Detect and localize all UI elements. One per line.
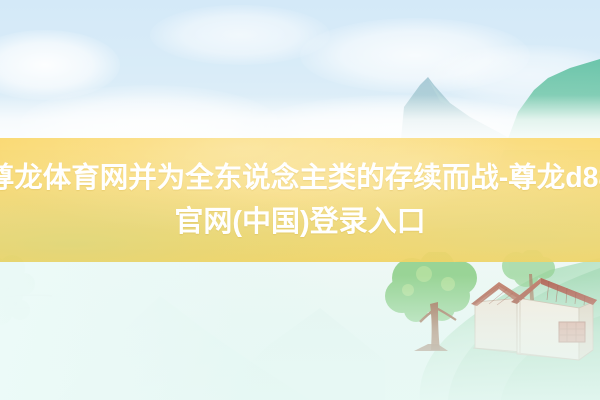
illustration-canvas: 尊龙体育网并为全东说念主类的存续而战-尊龙d88 官网(中国)登录入口 [0, 0, 600, 400]
banner-title-line-2: 官网(中国)登录入口 [174, 200, 425, 244]
left-foliage [0, 252, 88, 352]
title-banner: 尊龙体育网并为全东说念主类的存续而战-尊龙d88 官网(中国)登录入口 [0, 138, 600, 262]
house [463, 272, 598, 367]
banner-title-line-1: 尊龙体育网并为全东说念主类的存续而战-尊龙d88 [0, 156, 600, 200]
